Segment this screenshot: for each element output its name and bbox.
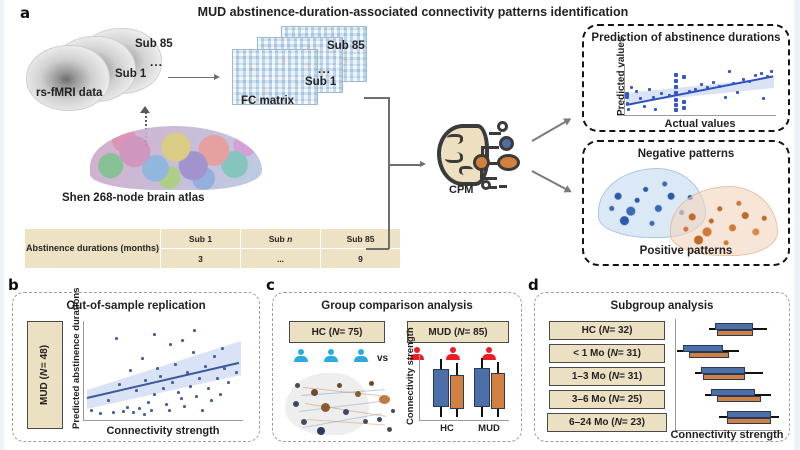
panel-d-x-axis-label: Connectivity strength: [663, 429, 791, 441]
panel-c-title: Group comparison analysis: [273, 300, 521, 312]
prediction-box: Prediction of abstinence durations: [582, 24, 790, 132]
d-6to24mo-positive-box: [727, 418, 771, 424]
prediction-scatter-chart: Predicted values Actual values: [624, 64, 776, 116]
fc-ellipsis: ...: [318, 62, 331, 76]
connector-to-cpm: [389, 164, 422, 166]
hc-negative-box: [433, 369, 449, 407]
panel-b-group-badge: MUD (N = 48): [27, 321, 63, 429]
table-cell-sub1-value: 3: [161, 249, 241, 269]
panel-d-group-badge-3to6mo: 3–6 Mo (N = 25): [549, 390, 665, 409]
cpm-node-large-orange: [497, 154, 520, 171]
connector-vertical: [388, 97, 390, 249]
patterns-box: Negative patterns Positive patterns: [582, 140, 790, 266]
table-cell-sub85-value: 9: [321, 249, 401, 269]
d-lt1mo-positive-box: [689, 352, 729, 358]
panel-b: Out-of-sample replication MUD (N = 48) P…: [12, 292, 260, 442]
shen-atlas-brain-icon: [90, 126, 262, 190]
fc-matrix-stack-icon: [232, 26, 367, 106]
panel-label-c: c: [266, 278, 275, 293]
table-col-header-subn: Sub n: [241, 229, 321, 249]
connector-to-cpm-head: [420, 161, 426, 167]
rsfmri-caption: rs-fMRI data: [36, 87, 102, 99]
panel-d-title: Subgroup analysis: [535, 300, 789, 312]
cpm-node-hollow-top: [497, 121, 508, 132]
person-icon-hc-3: [353, 349, 368, 363]
table-row-header: Abstinence durations (months): [25, 229, 161, 269]
d-hc-negative-box: [715, 323, 753, 330]
panel-label-a: a: [20, 6, 30, 21]
d-3to6mo-positive-box: [717, 396, 761, 402]
d-1to3mo-negative-box: [701, 367, 745, 374]
panel-c-y-axis-label: Connectivity strength: [405, 327, 416, 425]
atlas-to-fc-arrowhead: [140, 106, 150, 113]
fc-sub-last-label: Sub 85: [327, 40, 365, 52]
panel-c-boxplot-chart: HC MUD: [419, 355, 509, 421]
prediction-box-title: Prediction of abstinence durations: [584, 32, 788, 46]
mud-negative-box: [474, 368, 490, 407]
negative-patterns-title: Negative patterns: [584, 148, 788, 162]
panel-d-group-badge-1to3mo: 1–3 Mo (N = 31): [549, 367, 665, 386]
table-col-header-sub1: Sub 1: [161, 229, 241, 249]
person-icon-hc-2: [323, 349, 338, 363]
d-lt1mo-negative-box: [683, 345, 723, 352]
panel-c-vs-label: vs: [377, 353, 388, 364]
panel-c: Group comparison analysis HC (N = 75) MU…: [272, 292, 522, 442]
fc-matrix-caption: FC matrix: [241, 95, 294, 107]
panel-label-d: d: [528, 278, 539, 293]
d-1to3mo-positive-box: [703, 374, 745, 380]
panel-b-title: Out-of-sample replication: [13, 300, 259, 312]
table-cell-subn-value: ...: [241, 249, 321, 269]
fmri-ellipsis: ...: [150, 55, 163, 69]
cpm-model-icon: CPM: [437, 118, 529, 196]
panel-d-group-badge-hc: HC (N = 32): [549, 321, 665, 340]
cpm-node-blue: [499, 136, 514, 151]
panel-b-y-axis-label: Predicted abstinence durations: [71, 288, 82, 429]
cpm-label: CPM: [449, 184, 473, 196]
fc-sub-first-label: Sub 1: [305, 76, 336, 88]
cpm-node-hollow-bottom: [481, 180, 491, 190]
mud-positive-box: [491, 373, 505, 409]
shen-atlas-caption: Shen 268-node brain atlas: [62, 192, 205, 204]
panel-d-group-badge-6to24mo: 6–24 Mo (N = 23): [547, 413, 667, 432]
prediction-y-axis-label: Predicted values: [616, 37, 627, 116]
connectome-brain-graphic: [281, 369, 403, 439]
d-3to6mo-negative-box: [711, 389, 755, 396]
arrow-cpm-to-patterns: [532, 170, 572, 192]
person-icon-hc-1: [293, 349, 308, 363]
panel-a-title: MUD abstinence-duration-associated conne…: [168, 5, 658, 19]
panel-c-xtick-mud: MUD: [467, 423, 511, 434]
panel-c-mud-badge: MUD (N = 85): [407, 321, 509, 343]
fmri-sub-first-label: Sub 1: [115, 68, 146, 80]
prediction-x-axis-label: Actual values: [618, 118, 782, 130]
arrow-fmri-to-fc: [168, 77, 216, 78]
cpm-node-center: [473, 154, 490, 171]
d-6to24mo-negative-box: [727, 411, 771, 418]
panel-a: a MUD abstinence-duration-associated con…: [0, 0, 800, 272]
panel-d-boxplot-chart: [675, 319, 781, 431]
connector-top-stub: [364, 97, 389, 99]
abstinence-durations-table: Abstinence durations (months) Sub 1 Sub …: [24, 228, 401, 269]
fmri-sub-last-label: Sub 85: [135, 38, 173, 50]
panel-b-x-axis-label: Connectivity strength: [71, 425, 255, 437]
hc-positive-box: [450, 375, 464, 409]
arrow-fmri-to-fc-head: [214, 74, 220, 80]
panel-c-xtick-hc: HC: [427, 423, 467, 434]
connector-bottom-stub: [366, 248, 389, 250]
panel-label-b: b: [8, 278, 19, 293]
panel-c-hc-badge: HC (N = 75): [289, 321, 385, 343]
panel-b-scatter-chart: [83, 321, 243, 421]
d-hc-positive-box: [717, 330, 753, 336]
panel-d-group-badge-lt1mo: < 1 Mo (N = 31): [549, 344, 665, 363]
panel-d: Subgroup analysis HC (N = 32) < 1 Mo (N …: [534, 292, 790, 442]
arrow-cpm-to-prediction: [532, 118, 571, 141]
positive-patterns-title: Positive patterns: [584, 245, 788, 259]
